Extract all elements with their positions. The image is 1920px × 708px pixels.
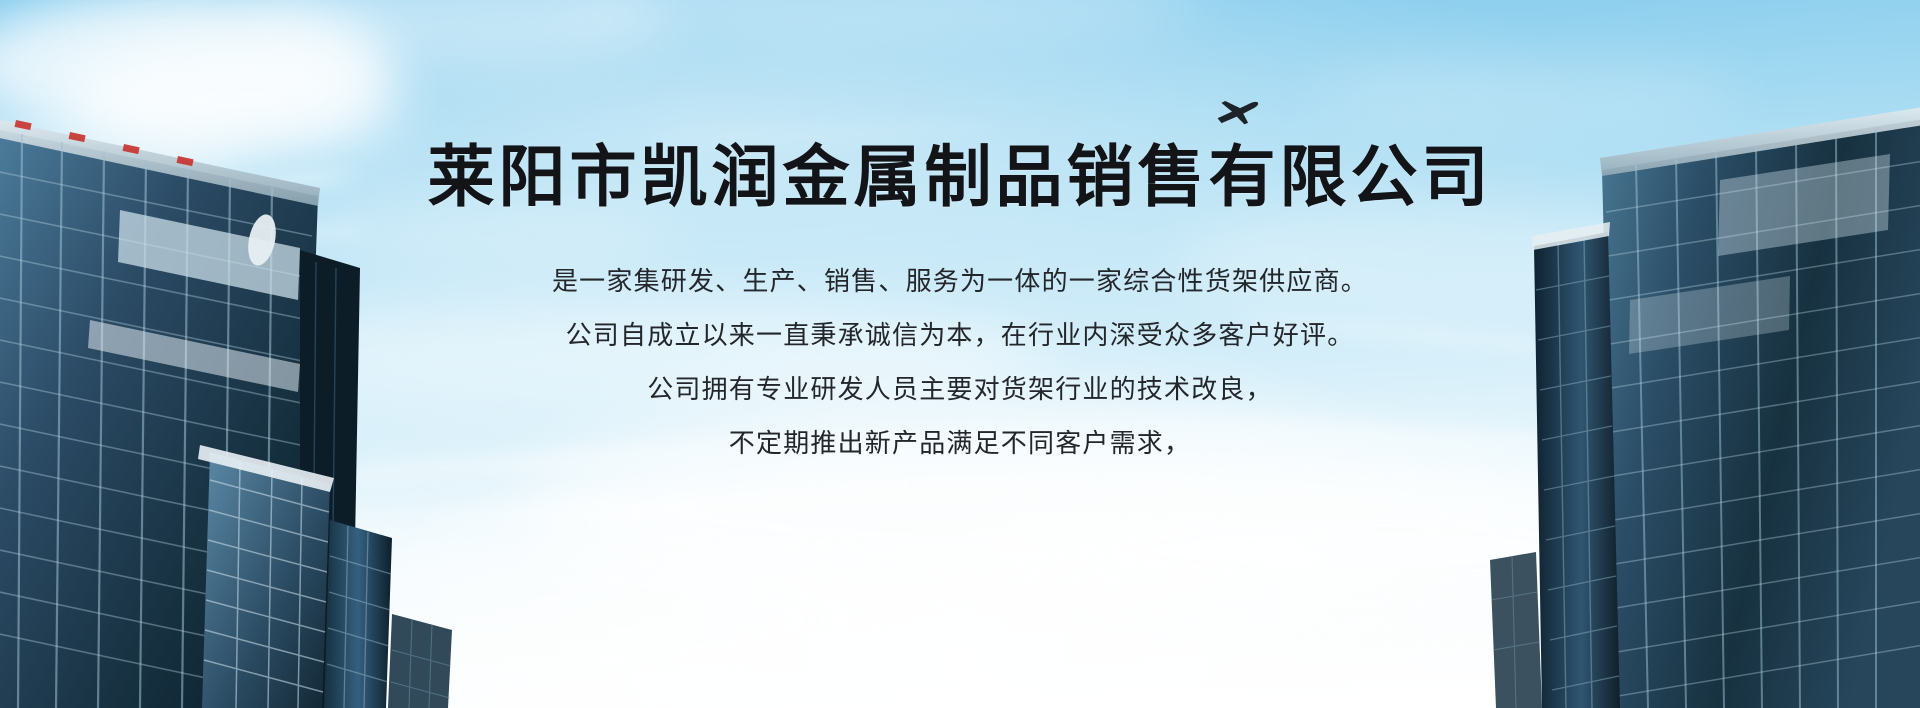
banner-description: 是一家集研发、生产、销售、服务为一体的一家综合性货架供应商。 公司自成立以来一直… — [0, 255, 1920, 471]
description-line-2: 公司自成立以来一直秉承诚信为本，在行业内深受众多客户好评。 — [0, 309, 1920, 363]
banner-copy: 莱阳市凯润金属制品销售有限公司 是一家集研发、生产、销售、服务为一体的一家综合性… — [0, 0, 1920, 471]
description-line-3: 公司拥有专业研发人员主要对货架行业的技术改良， — [0, 363, 1920, 417]
description-line-1: 是一家集研发、生产、销售、服务为一体的一家综合性货架供应商。 — [0, 255, 1920, 309]
description-line-4: 不定期推出新产品满足不同客户需求， — [0, 417, 1920, 471]
page-title: 莱阳市凯润金属制品销售有限公司 — [0, 144, 1920, 211]
hero-banner: 莱阳市凯润金属制品销售有限公司 是一家集研发、生产、销售、服务为一体的一家综合性… — [0, 0, 1920, 708]
